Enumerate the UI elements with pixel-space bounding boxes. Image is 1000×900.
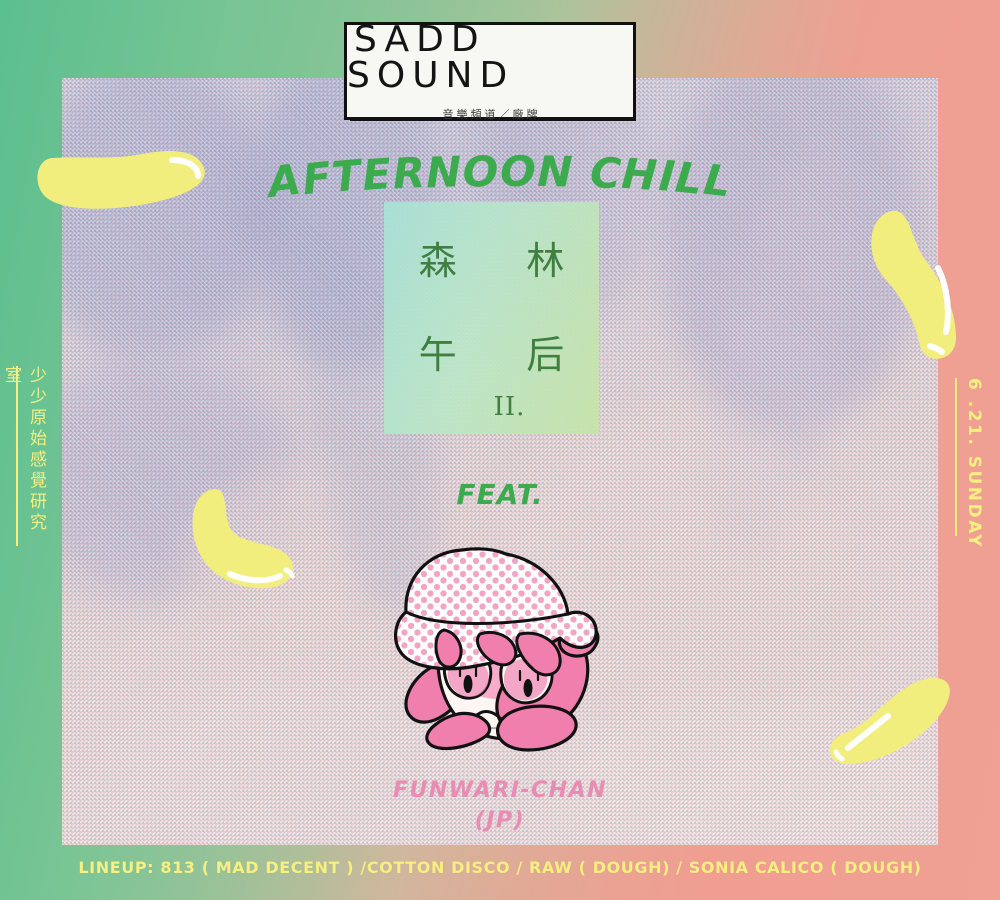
headline-char: H <box>620 149 659 200</box>
headline-char: C <box>589 148 623 199</box>
headline-char: F <box>300 152 335 204</box>
headline-text: AFTERNOON CHILL <box>271 156 728 205</box>
artist-name: FUNWARI-CHAN <box>0 776 1000 806</box>
edition-numeral: II. <box>384 392 599 422</box>
brand-wordmark: SADD SOUND <box>347 22 633 94</box>
mascot-lock-lower-right <box>498 706 577 750</box>
headline-char: O <box>500 147 537 196</box>
artist-credit: FUNWARI-CHAN (JP) <box>0 776 1000 835</box>
cjk-title-row-1: 森 林 <box>384 230 599 285</box>
feat-label: FEAT. <box>0 478 1000 511</box>
poster-canvas: SADD SOUND 音樂頻道／廠牌 AFTERNOON CHILL 森 林 午… <box>0 0 1000 900</box>
headline-char: N <box>425 147 463 197</box>
headline-char: R <box>391 148 427 199</box>
mascot-pupil-left <box>464 675 473 693</box>
headline-char: E <box>361 149 394 200</box>
cjk-char: 森 <box>419 230 457 285</box>
headline-char <box>573 147 590 197</box>
cjk-title-panel: 森 林 午 后 II. <box>384 202 599 434</box>
brand-logo-box: SADD SOUND 音樂頻道／廠牌 <box>344 22 636 120</box>
page-title: AFTERNOON CHILL <box>0 156 1000 205</box>
cjk-title-row-2: 午 后 <box>384 324 599 379</box>
mascot-pupil-right <box>524 679 533 697</box>
headline-char: N <box>537 147 574 197</box>
cjk-char: 午 <box>419 324 457 379</box>
mascot-illustration <box>388 538 614 770</box>
cjk-char: 后 <box>526 324 564 379</box>
cjk-char: 林 <box>526 230 564 285</box>
side-label-studio: 少少原始感覺研究室 <box>16 366 49 546</box>
brand-subtitle: 音樂頻道／廠牌 <box>440 106 541 122</box>
headline-char: O <box>462 147 500 197</box>
lineup-text: LINEUP: 813 ( MAD DECENT ) /COTTON DISCO… <box>0 858 1000 877</box>
headline-char: L <box>701 155 735 207</box>
headline-char: T <box>330 150 364 201</box>
artist-origin: (JP) <box>0 806 1000 836</box>
yellow-blob-right-upper <box>852 196 972 364</box>
yellow-blob-right-lower <box>818 672 960 768</box>
side-label-date: 6 .21. SUNDAY <box>955 378 984 536</box>
headline-char: A <box>265 154 304 207</box>
